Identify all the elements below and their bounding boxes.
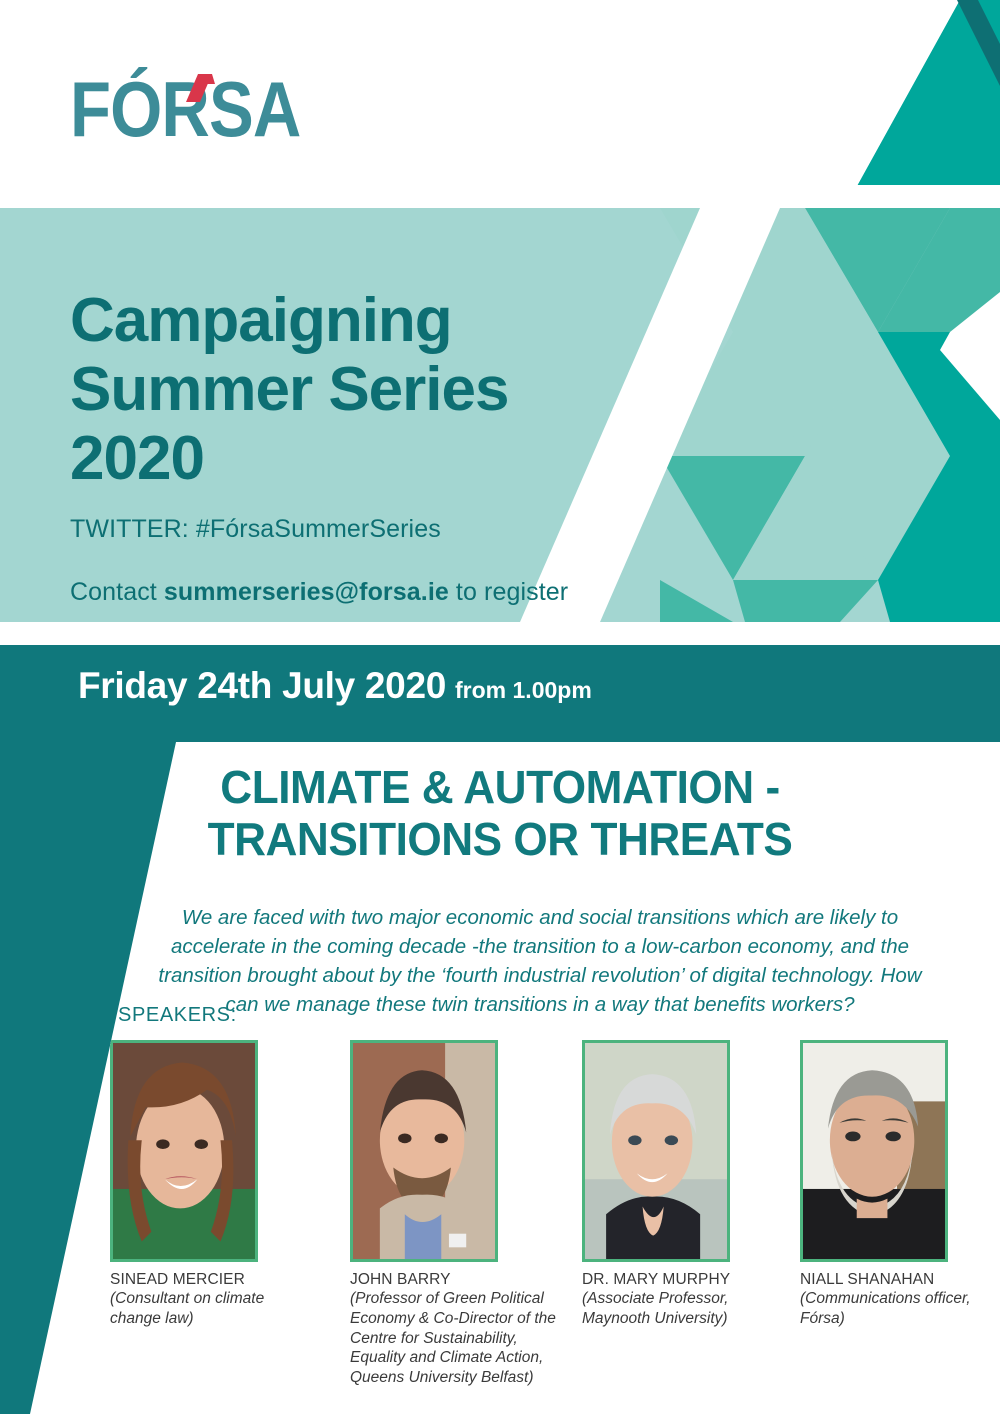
portrait-photo xyxy=(350,1040,498,1262)
talk-description: We are faced with two major economic and… xyxy=(140,903,940,1019)
headline-line-3: 2020 xyxy=(70,424,204,493)
page-title: Campaigning Summer Series 2020 xyxy=(70,286,690,494)
event-date-line: Friday 24th July 2020from 1.00pm xyxy=(78,665,592,707)
contact-prefix: Contact xyxy=(70,578,157,606)
speaker-role: (Professor of Green Political Economy & … xyxy=(350,1289,565,1388)
headline-line-2: Summer Series xyxy=(70,355,508,424)
portrait-photo xyxy=(110,1040,258,1262)
speaker-card: NIALL SHANAHAN (Communications officer, … xyxy=(800,1040,1000,1329)
forsa-logo: FÓRSA xyxy=(70,48,390,158)
speaker-role: (Communications officer, Fórsa) xyxy=(800,1289,1000,1329)
speaker-name: JOHN BARRY xyxy=(350,1271,565,1289)
talk-title-line-1: CLIMATE & AUTOMATION - xyxy=(220,761,779,813)
twitter-handle: #FórsaSummerSeries xyxy=(196,515,441,543)
twitter-hashtag-line: TWITTER: #FórsaSummerSeries xyxy=(70,515,441,544)
speaker-name: DR. MARY MURPHY xyxy=(582,1271,797,1289)
twitter-label: TWITTER: xyxy=(70,515,189,543)
portrait-photo xyxy=(800,1040,948,1262)
event-date: Friday 24th July 2020 xyxy=(78,665,446,706)
portrait-photo xyxy=(582,1040,730,1262)
speaker-name: SINEAD MERCIER xyxy=(110,1271,280,1289)
speaker-card: SINEAD MERCIER (Consultant on climate ch… xyxy=(110,1040,280,1329)
event-time: from 1.00pm xyxy=(455,677,592,703)
speaker-card: DR. MARY MURPHY (Associate Professor, Ma… xyxy=(582,1040,797,1329)
speakers-row: SINEAD MERCIER (Consultant on climate ch… xyxy=(110,1040,990,1400)
speaker-card: JOHN BARRY (Professor of Green Political… xyxy=(350,1040,565,1388)
contact-suffix: to register xyxy=(456,578,568,606)
speakers-label: SPEAKERS: xyxy=(118,1004,237,1027)
red-chevron-accent-icon xyxy=(182,72,216,106)
talk-title-line-2: TRANSITIONS OR THREATS xyxy=(208,813,793,865)
contact-line: Contact summerseries@forsa.ie to registe… xyxy=(70,578,568,607)
poster-root: FÓRSA Campaigning xyxy=(0,0,1000,1414)
headline-line-1: Campaigning xyxy=(70,286,452,355)
speaker-role: (Consultant on climate change law) xyxy=(110,1289,280,1329)
speaker-role: (Associate Professor, Maynooth Universit… xyxy=(582,1289,797,1329)
speaker-name: NIALL SHANAHAN xyxy=(800,1271,1000,1289)
contact-email-link[interactable]: summerseries@forsa.ie xyxy=(164,578,449,606)
